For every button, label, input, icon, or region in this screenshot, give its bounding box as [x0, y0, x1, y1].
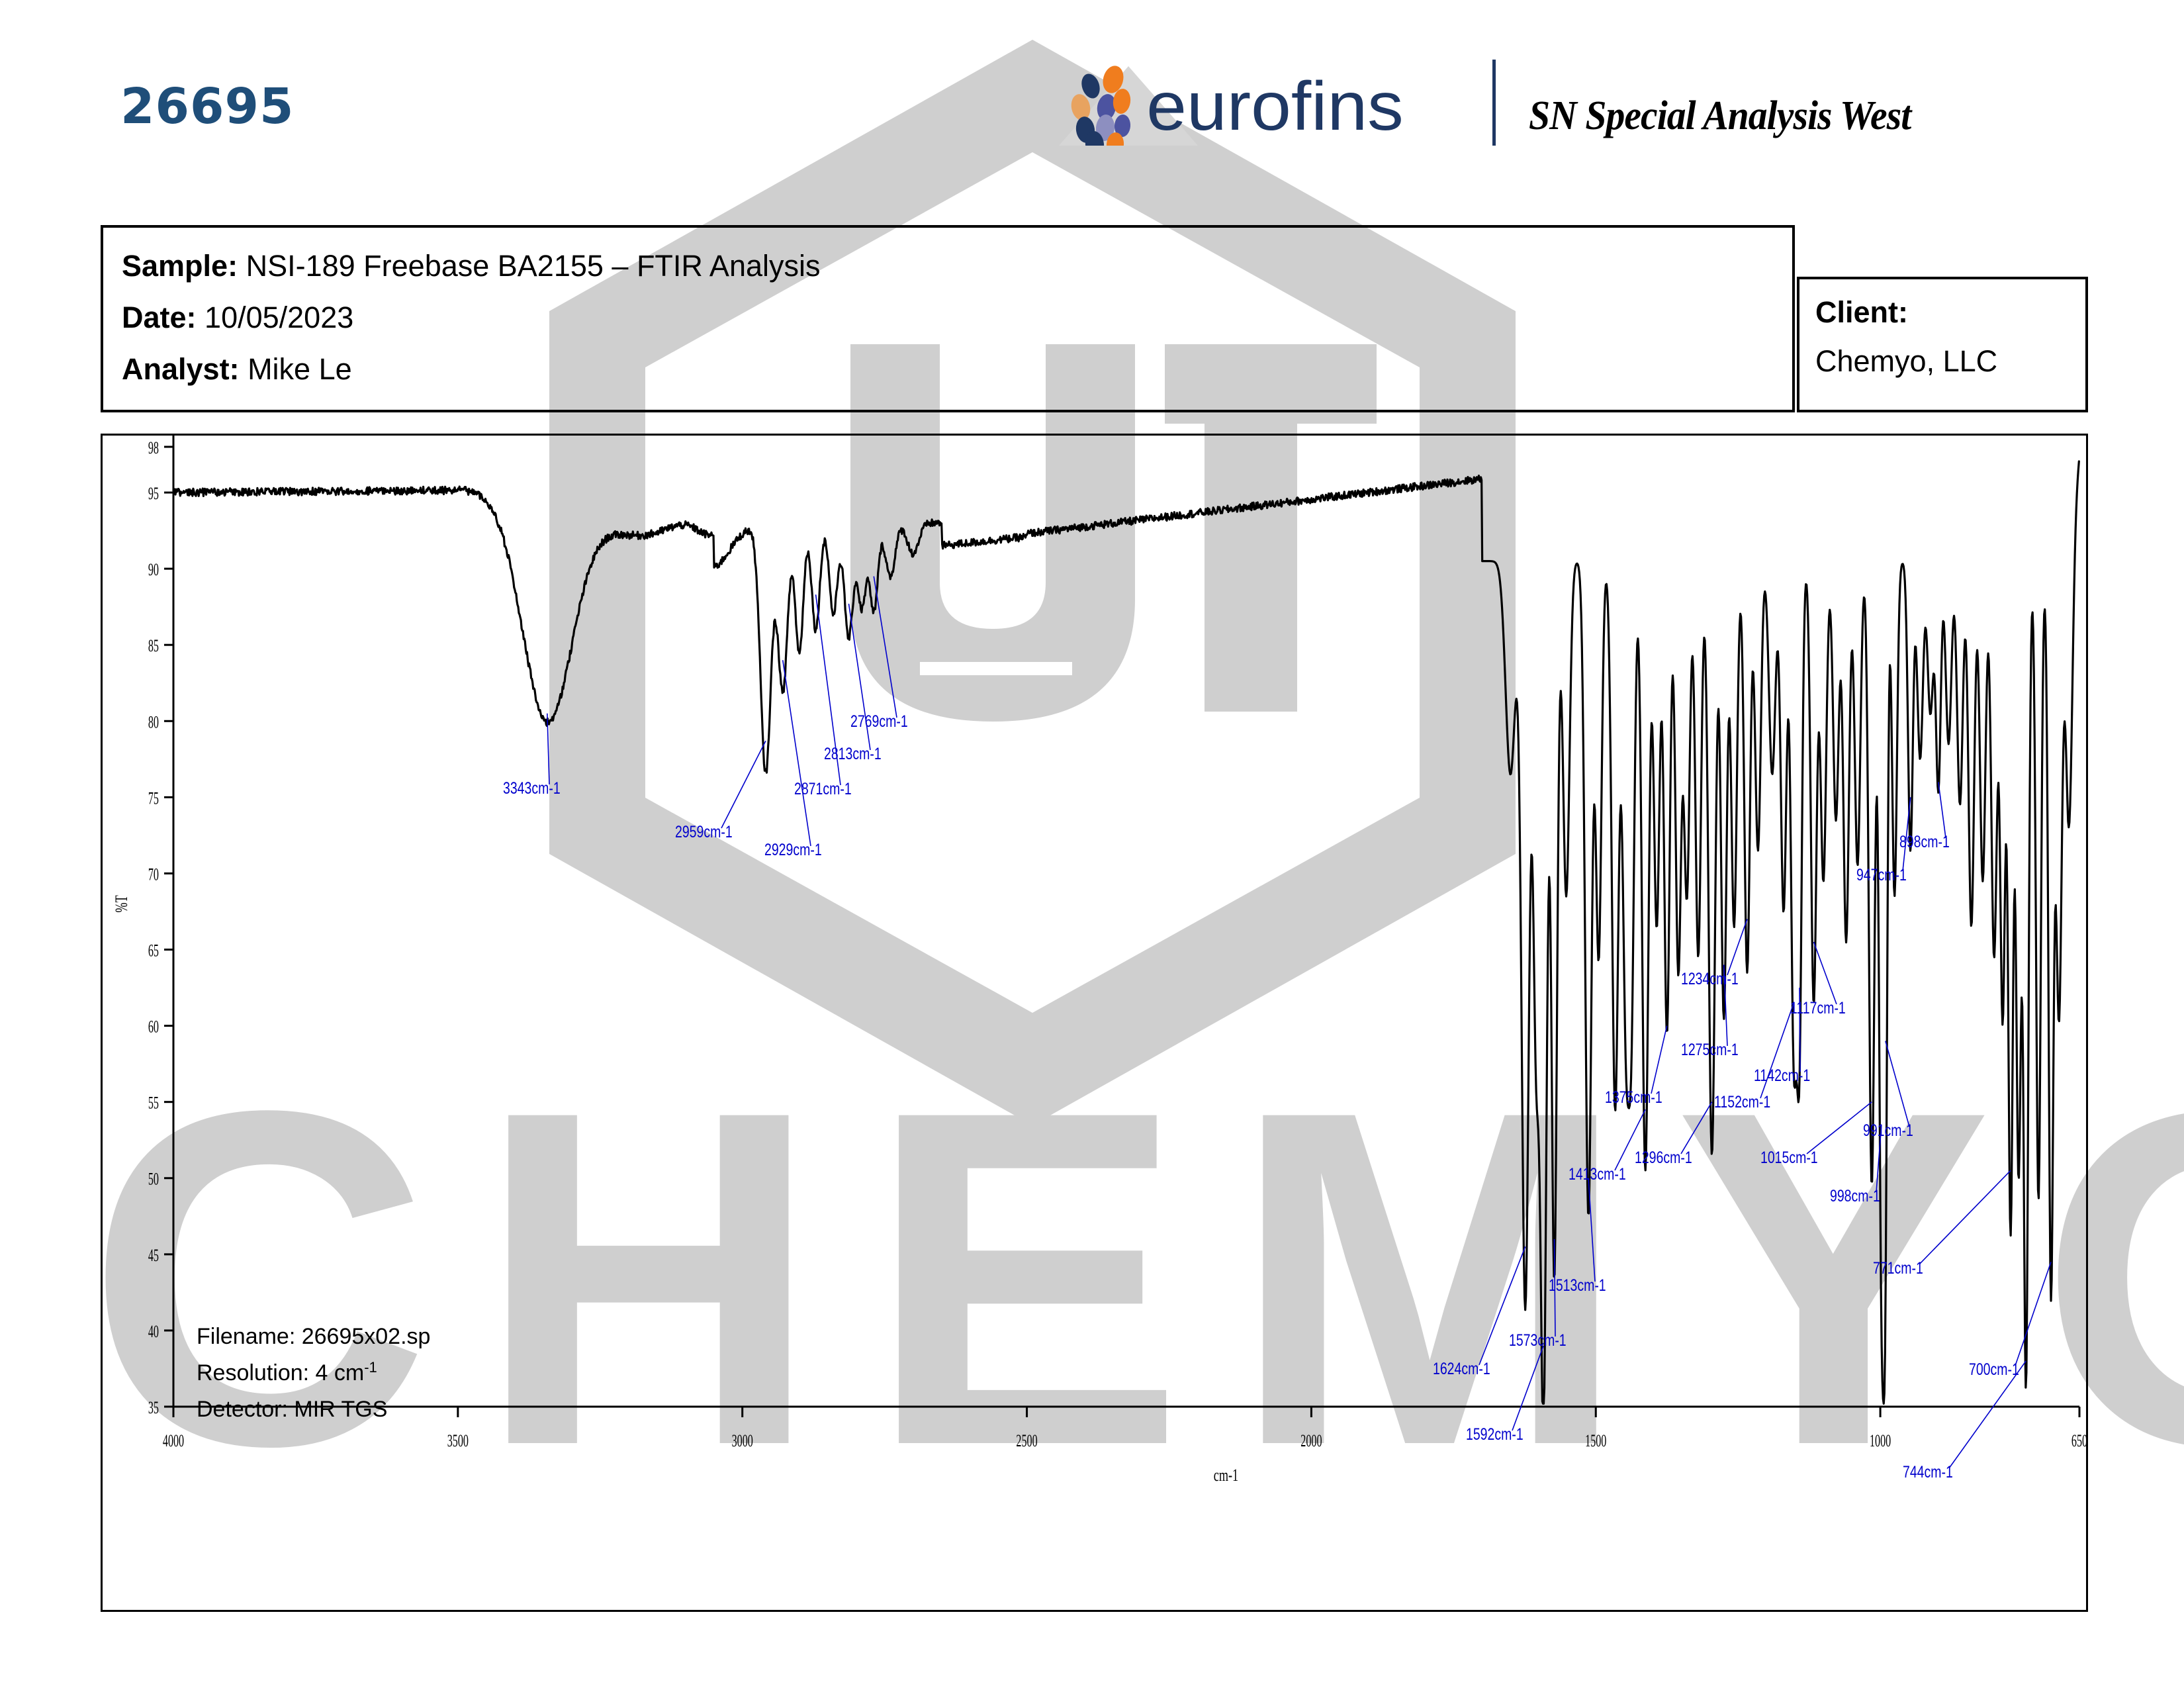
peak-label: 1275cm-1	[1681, 1041, 1739, 1059]
sample-value: NSI-189 Freebase BA2155 – FTIR Analysis	[246, 249, 821, 283]
y-tick-label: 95	[148, 484, 159, 503]
peak-label: 998cm-1	[1830, 1187, 1880, 1205]
analyst-value: Mike Le	[248, 352, 352, 386]
peak-label: 1513cm-1	[1549, 1276, 1606, 1295]
analyst-line: Analyst: Mike Le	[122, 352, 352, 387]
sample-info-box: Sample: NSI-189 Freebase BA2155 – FTIR A…	[101, 225, 1795, 412]
peak-label: 898cm-1	[1899, 833, 1950, 851]
peak-leader-line	[1588, 1178, 1595, 1282]
peak-label: 1573cm-1	[1509, 1331, 1567, 1350]
y-tick-label: 45	[148, 1246, 159, 1265]
client-label: Client:	[1815, 295, 1908, 330]
y-tick-label: 80	[148, 712, 159, 731]
peak-label: 2929cm-1	[764, 841, 822, 859]
peak-label: 1375cm-1	[1605, 1088, 1662, 1107]
spectrum-svg: 9895908580757065605550454035400035003000…	[101, 434, 2088, 1612]
header-divider	[1492, 60, 1496, 146]
peak-label: 2769cm-1	[850, 712, 908, 731]
peak-label: 700cm-1	[1969, 1360, 2019, 1379]
date-label: Date:	[122, 301, 197, 334]
peak-label: 1413cm-1	[1569, 1165, 1626, 1184]
peak-label: 3343cm-1	[503, 779, 561, 798]
y-tick-label: 85	[148, 636, 159, 655]
page-header: 26695 eurofins SN Special Analysis West	[0, 0, 2184, 199]
y-tick-label: 70	[148, 865, 159, 884]
peak-leader-line	[721, 741, 766, 828]
peak-leader-line	[1512, 1346, 1543, 1430]
resolution-annotation: Resolution: 4 cm-1	[197, 1359, 377, 1385]
peak-label: 1296cm-1	[1635, 1149, 1692, 1167]
peak-leader-line	[1814, 942, 1837, 1004]
ftir-spectrum-chart: 9895908580757065605550454035400035003000…	[101, 434, 2088, 1612]
filename-annotation: Filename: 26695x02.sp	[197, 1324, 430, 1349]
peak-leader-line	[1681, 1102, 1712, 1154]
sample-label: Sample:	[122, 249, 238, 283]
peak-leader-line	[1886, 1041, 1909, 1127]
x-tick-label: 4000	[163, 1431, 184, 1450]
spectrum-line	[173, 461, 2079, 1403]
peak-label: 2813cm-1	[824, 745, 882, 763]
peak-label: 1234cm-1	[1681, 970, 1739, 988]
client-box: Client: Chemyo, LLC	[1797, 277, 2088, 412]
peak-label: 771cm-1	[1873, 1259, 1923, 1278]
logo-dots	[1069, 64, 1132, 146]
logo-wordmark: eurofins	[1146, 67, 1403, 144]
peak-label: 1624cm-1	[1433, 1360, 1490, 1378]
analyst-label: Analyst:	[122, 352, 240, 386]
x-tick-label: 2500	[1016, 1431, 1037, 1450]
x-tick-label: 650	[2071, 1431, 2087, 1450]
peak-label: 947cm-1	[1856, 866, 1907, 884]
y-tick-label: 55	[148, 1094, 159, 1113]
peak-leader-line	[783, 660, 811, 846]
date-line: Date: 10/05/2023	[122, 301, 353, 335]
y-tick-label: 35	[148, 1398, 159, 1417]
client-value: Chemyo, LLC	[1815, 344, 1997, 379]
peak-leader-line	[874, 577, 897, 718]
x-tick-label: 1500	[1585, 1431, 1606, 1450]
y-tick-label: 75	[148, 789, 159, 808]
peak-labels: 3343cm-12959cm-12929cm-12871cm-12813cm-1…	[503, 712, 2019, 1481]
peak-leader-line	[1651, 1026, 1667, 1094]
peak-label: 2959cm-1	[675, 823, 733, 841]
report-number: 26695	[120, 78, 294, 135]
x-tick-label: 1000	[1870, 1431, 1891, 1450]
peak-label: 1152cm-1	[1714, 1093, 1770, 1111]
peak-leader-line	[1919, 1170, 2011, 1264]
y-tick-label: 98	[148, 438, 159, 457]
peak-leader-line	[2015, 1262, 2051, 1366]
peak-label: 991cm-1	[1863, 1121, 1913, 1140]
peak-label: 1142cm-1	[1754, 1066, 1810, 1085]
lab-name: SN Special Analysis West	[1529, 93, 1911, 140]
detector-annotation: Detector: MIR TGS	[197, 1397, 387, 1422]
peak-label: 2871cm-1	[794, 780, 852, 798]
y-tick-label: 40	[148, 1322, 159, 1341]
x-axis-title: cm-1	[1214, 1466, 1238, 1485]
peak-label: 744cm-1	[1903, 1463, 1953, 1481]
y-axis-title: %T	[112, 895, 131, 913]
peak-leader-line	[1727, 919, 1747, 975]
y-tick-label: 60	[148, 1017, 159, 1037]
peak-label: 1015cm-1	[1760, 1149, 1818, 1167]
date-value: 10/05/2023	[205, 301, 353, 334]
y-tick-label: 90	[148, 560, 159, 579]
x-tick-label: 2000	[1300, 1431, 1322, 1450]
peak-leader-lines	[547, 577, 2051, 1468]
x-tick-label: 3500	[447, 1431, 469, 1450]
x-tick-label: 3000	[732, 1431, 753, 1450]
y-tick-label: 65	[148, 941, 159, 961]
eurofins-logo-svg: eurofins	[1059, 60, 1469, 146]
peak-leader-line	[1938, 782, 1946, 838]
eurofins-logo: eurofins	[1059, 60, 1469, 146]
spectrum-trace	[173, 461, 2079, 1403]
y-tick-label: 50	[148, 1170, 159, 1189]
peak-label: 1117cm-1	[1790, 999, 1846, 1017]
peak-label: 1592cm-1	[1466, 1425, 1524, 1444]
sample-line: Sample: NSI-189 Freebase BA2155 – FTIR A…	[122, 249, 821, 283]
peak-leader-line	[1807, 1102, 1872, 1154]
